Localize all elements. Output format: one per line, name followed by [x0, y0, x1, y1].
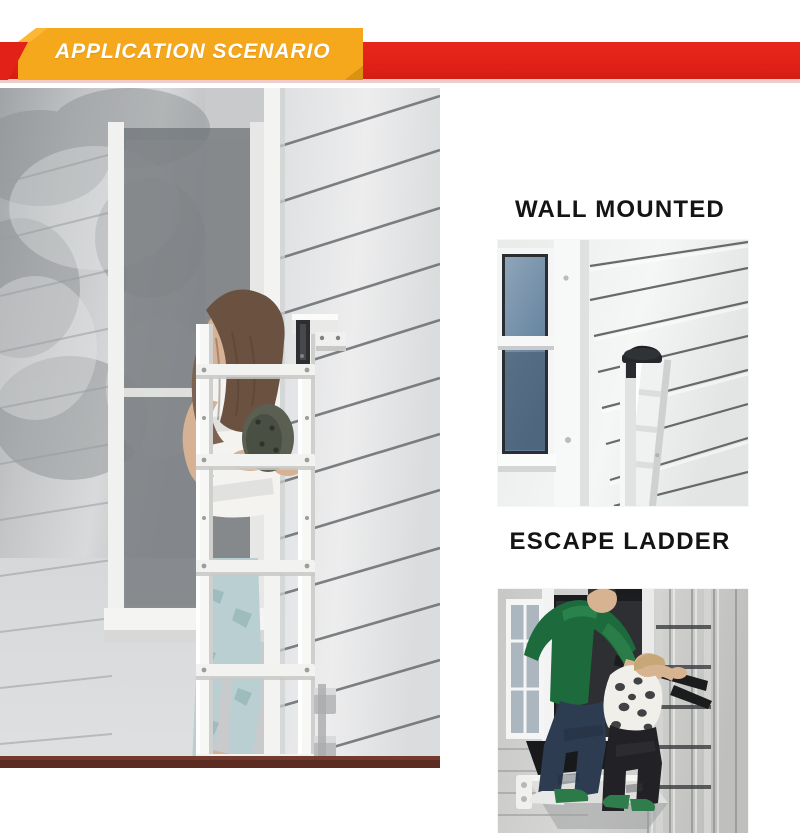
panel-title-wall-mounted: WALL MOUNTED	[440, 196, 800, 224]
banner-notch-wedge	[0, 42, 40, 82]
panel-photo-wall-mounted	[498, 240, 748, 506]
panel-title-escape-ladder: ESCAPE LADDER	[440, 528, 800, 556]
hero-photo-woman-on-escape-ladder	[0, 88, 440, 768]
right-panel-column: WALL MOUNTED	[440, 88, 800, 800]
marketing-image-root: APPLICATION SCENARIO	[0, 0, 800, 800]
banner-title: APPLICATION SCENARIO	[55, 40, 330, 64]
panel-photo-escape-ladder	[498, 589, 748, 833]
application-scenario-banner: APPLICATION SCENARIO	[0, 0, 800, 88]
